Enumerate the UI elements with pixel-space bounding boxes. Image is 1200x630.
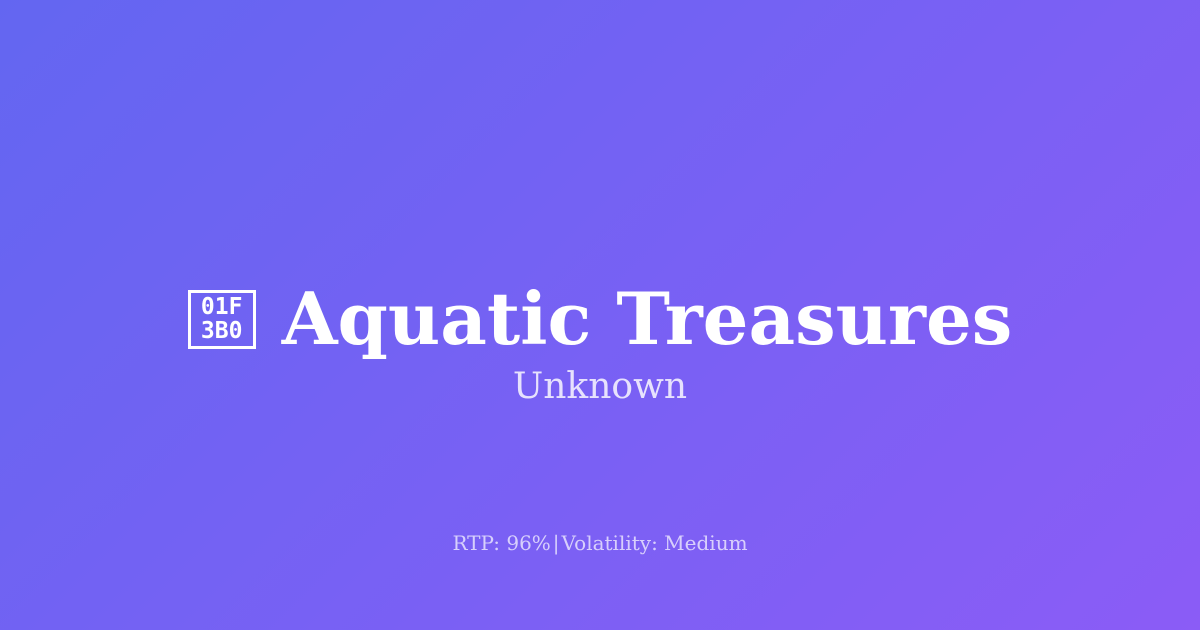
slot-machine-icon-hex-bottom: 3B0 [201,319,243,343]
rtp-value: RTP: 96% [452,531,550,555]
page-title: Aquatic Treasures [282,281,1013,357]
volatility-value: Volatility: Medium [562,531,748,555]
game-meta-footer: RTP: 96%|Volatility: Medium [0,530,1200,556]
game-preview-card: 01F 3B0 Aquatic Treasures Unknown RTP: 9… [0,0,1200,630]
slot-machine-icon: 01F 3B0 [188,290,256,349]
slot-machine-icon-hex-top: 01F [201,295,243,319]
provider-subtitle: Unknown [0,364,1200,410]
meta-separator: | [551,531,562,555]
